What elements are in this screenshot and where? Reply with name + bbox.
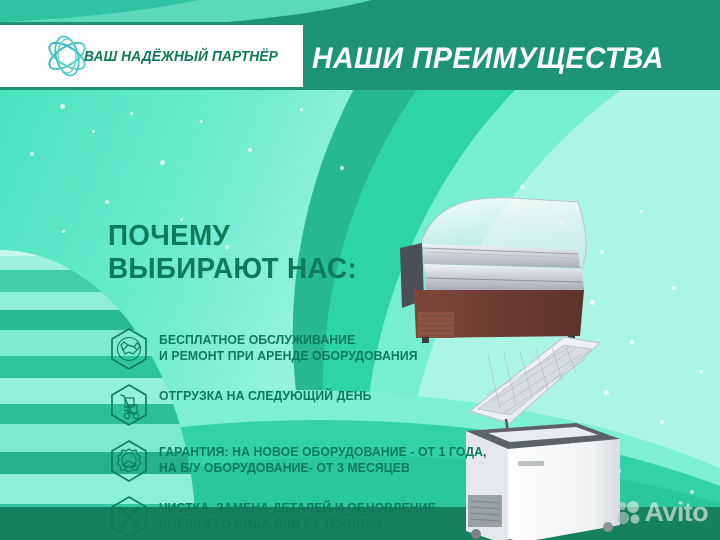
list-item-label: ОТГРУЗКА НА СЛЕДУЮЩИЙ ДЕНЬ xyxy=(159,384,372,405)
logo-box: ВАШ НАДЁЖНЫЙ ПАРТНЁР xyxy=(0,25,303,87)
tools-wrench-screwdriver-icon xyxy=(110,496,148,538)
avito-watermark: Avito xyxy=(616,499,709,526)
top-accent-strip xyxy=(0,0,720,22)
hand-truck-icon xyxy=(110,384,148,426)
avito-label: Avito xyxy=(645,499,709,526)
headline: ПОЧЕМУ ВЫБИРАЮТ НАС: xyxy=(108,220,357,286)
logo-text: ВАШ НАДЁЖНЫЙ ПАРТНЁР xyxy=(84,48,278,65)
refrigerated-display-case-image xyxy=(392,190,692,350)
main-stage: ПОЧЕМУ ВЫБИРАЮТ НАС: БЕСПЛАТНОЕ ОБСЛУЖИВ… xyxy=(0,90,720,540)
avito-dots-icon xyxy=(616,501,642,525)
page-title: НАШИ ПРЕИМУЩЕСТВА xyxy=(312,44,664,74)
list-item: ГАРАНТИЯ: НА НОВОЕ ОБОРУДОВАНИЕ - ОТ 1 Г… xyxy=(110,440,530,482)
handshake-gear-icon xyxy=(110,440,148,482)
list-item-label: БЕСПЛАТНОЕ ОБСЛУЖИВАНИЕ И РЕМОНТ ПРИ АРЕ… xyxy=(159,328,418,364)
promo-poster: ВАШ НАДЁЖНЫЙ ПАРТНЁР НАШИ ПРЕИМУЩЕСТВА xyxy=(0,0,720,540)
list-item: БЕСПЛАТНОЕ ОБСЛУЖИВАНИЕ И РЕМОНТ ПРИ АРЕ… xyxy=(110,328,530,370)
logo: ВАШ НАДЁЖНЫЙ ПАРТНЁР xyxy=(38,25,295,87)
list-item-label: ЧИСТКА, ЗАМЕНА ДЕТАЛЕЙ И ОБНОВЛЕНИЕ ВНЕШ… xyxy=(159,496,436,532)
handshake-icon xyxy=(110,328,148,370)
advantages-list: БЕСПЛАТНОЕ ОБСЛУЖИВАНИЕ И РЕМОНТ ПРИ АРЕ… xyxy=(110,328,530,540)
list-item-label: ГАРАНТИЯ: НА НОВОЕ ОБОРУДОВАНИЕ - ОТ 1 Г… xyxy=(159,440,487,476)
list-item: ОТГРУЗКА НА СЛЕДУЮЩИЙ ДЕНЬ xyxy=(110,384,530,426)
list-item: ЧИСТКА, ЗАМЕНА ДЕТАЛЕЙ И ОБНОВЛЕНИЕ ВНЕШ… xyxy=(110,496,530,538)
header-band: ВАШ НАДЁЖНЫЙ ПАРТНЁР НАШИ ПРЕИМУЩЕСТВА xyxy=(0,22,720,90)
